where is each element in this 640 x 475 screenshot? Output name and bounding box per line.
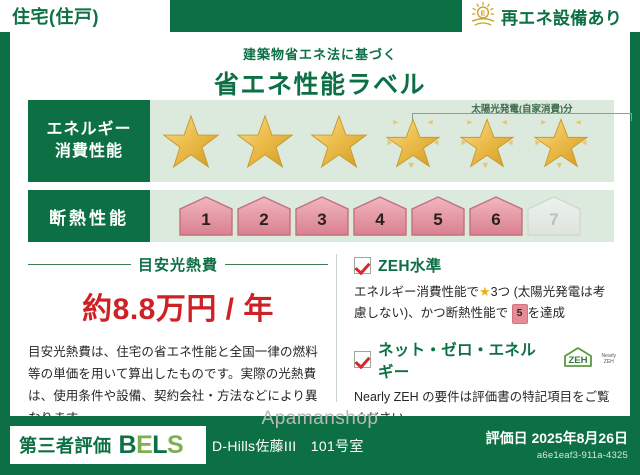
insulation-level-1-value: 1 — [178, 210, 234, 230]
bels-jp-label: 第三者評価 — [19, 432, 112, 458]
bels-letter-b: B — [119, 431, 137, 459]
energy-label-line1: エネルギー — [46, 119, 131, 141]
energy-star-rating: 太陽光発電(自家消費)分 — [156, 100, 614, 182]
mini-star-icon: ★ — [479, 284, 491, 299]
property-name: D-Hills佐藤III 101号室 — [212, 436, 364, 456]
insulation-level-4: 4 — [352, 195, 408, 237]
insulation-level-3: 3 — [294, 195, 350, 237]
svg-text:E: E — [481, 10, 486, 17]
evaluation-date: 評価日 2025年8月26日 — [486, 428, 628, 448]
evaluation-id: a6e1eaf3-911a-4325 — [537, 450, 628, 461]
insulation-level-6-value: 6 — [468, 210, 524, 230]
rule-left — [28, 264, 131, 265]
zeh-house-icon: ZEH — [561, 345, 595, 374]
insulation-level-7-value: 7 — [526, 210, 582, 230]
utility-cost-section: 目安光熱費 約8.8万円 / 年 目安光熱費は、住宅の省エネ性能と全国一律の燃料… — [28, 254, 328, 430]
zeh-sup-line2: ZEH — [604, 359, 614, 365]
claim-net-zero-head: ネット・ゼロ・エネルギー ZEH Nearly ZEH — [354, 338, 616, 382]
bels-logo: 第三者評価 BELS — [10, 426, 206, 464]
housing-type-label: 住宅(住戸) — [12, 3, 99, 29]
utility-cost-heading: 目安光熱費 — [138, 254, 218, 275]
energy-performance-label: エネルギー 消費性能 — [28, 100, 150, 182]
bels-label-root: 住宅(住戸) E — [0, 0, 640, 475]
bels-letter-l: L — [152, 431, 167, 459]
star-icon-6-solar — [532, 114, 590, 170]
insulation-level-7: 7 — [526, 195, 582, 237]
checkbox-checked-icon-2 — [354, 351, 371, 368]
label-panel: 建築物省エネ法に基づく 省エネ性能ラベル エネルギー 消費性能 太陽光発電(自家… — [10, 32, 630, 416]
insulation-level-5: 5 — [410, 195, 466, 237]
star-icon-2 — [236, 114, 294, 170]
claims-section: ZEH水準 エネルギー消費性能で★3つ (太陽光発電は考慮しない)、かつ断熱性能… — [354, 254, 616, 435]
checkbox-checked-icon — [354, 257, 371, 274]
solar-sun-icon: E — [470, 1, 496, 32]
claim-zeh-standard-body: エネルギー消費性能で★3つ (太陽光発電は考慮しない)、かつ断熱性能で 5を達成 — [354, 281, 616, 325]
insulation-level-1: 1 — [178, 195, 234, 237]
bels-en-label: BELS — [119, 431, 184, 460]
top-bar: 住宅(住戸) E — [0, 0, 640, 32]
claim-zeh-text-1: エネルギー消費性能で — [354, 285, 479, 299]
renewable-equipment-label: 再エネ設備あり — [501, 4, 622, 29]
energy-performance-row: エネルギー 消費性能 太陽光発電(自家消費)分 — [28, 100, 614, 182]
claim-net-zero-title: ネット・ゼロ・エネルギー — [378, 338, 552, 382]
insulation-level-3-value: 3 — [294, 210, 350, 230]
bels-letter-e: E — [136, 431, 152, 459]
section-divider — [336, 254, 337, 402]
claim-zeh-standard: ZEH水準 エネルギー消費性能で★3つ (太陽光発電は考慮しない)、かつ断熱性能… — [354, 254, 616, 325]
utility-cost-value: 約8.8万円 / 年 — [28, 284, 328, 328]
star-icon-5-solar — [458, 114, 516, 170]
insulation-level-2: 2 — [236, 195, 292, 237]
solar-bracket — [412, 113, 632, 121]
insulation-level-4-value: 4 — [352, 210, 408, 230]
label-subtitle: 建築物省エネ法に基づく — [10, 44, 630, 63]
claim-zeh-standard-head: ZEH水準 — [354, 254, 616, 276]
footer-bar: 第三者評価 BELS D-Hills佐藤III 101号室 評価日 2025年8… — [0, 416, 640, 475]
renewable-equipment-badge: E 再エネ設備あり — [462, 0, 640, 32]
insulation-level-5-value: 5 — [410, 210, 466, 230]
utility-cost-heading-row: 目安光熱費 — [28, 254, 328, 275]
claim-zeh-text-4: を達成 — [528, 306, 566, 320]
bels-letter-s: S — [167, 431, 183, 459]
insulation-performance-row: 断熱性能 1 — [28, 190, 614, 242]
claim-zeh-text-2: 3つ (太陽光発電 — [491, 285, 581, 299]
star-icon-4-solar — [384, 114, 442, 170]
insulation-level-2-value: 2 — [236, 210, 292, 230]
insulation-performance-label: 断熱性能 — [28, 190, 150, 242]
label-title-block: 建築物省エネ法に基づく 省エネ性能ラベル — [10, 44, 630, 101]
star-icon-3 — [310, 114, 368, 170]
star-icon-1 — [162, 114, 220, 170]
zeh-badge-superscript: Nearly ZEH — [602, 354, 616, 365]
rule-right — [225, 264, 328, 265]
claim-zeh-standard-title: ZEH水準 — [378, 254, 442, 276]
page-title: 省エネ性能ラベル — [10, 65, 630, 101]
insulation-badge-5: 5 — [512, 304, 528, 324]
insulation-level-6: 6 — [468, 195, 524, 237]
housing-type-badge: 住宅(住戸) — [0, 0, 170, 32]
energy-label-line2: 消費性能 — [55, 141, 123, 163]
svg-text:ZEH: ZEH — [568, 355, 587, 366]
